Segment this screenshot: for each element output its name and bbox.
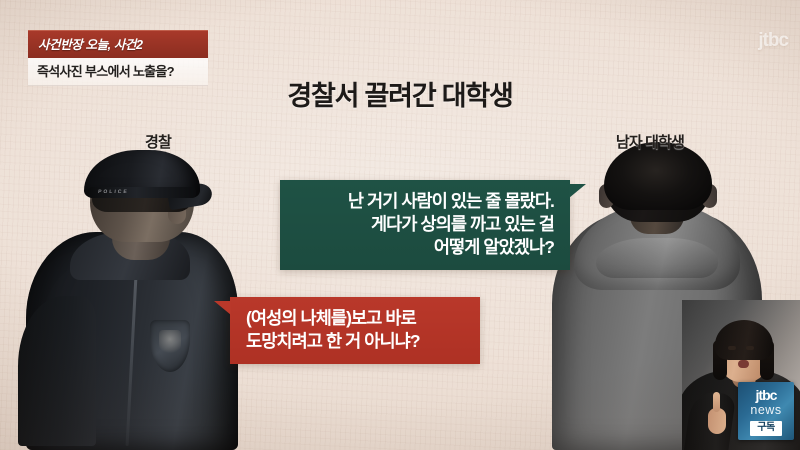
quote-line: 어떻게 알았겠나?: [296, 236, 554, 259]
badge-brand-logo: jtbc: [756, 388, 777, 402]
quote-line: 난 거기 사람이 있는 줄 몰랐다.: [296, 190, 554, 213]
program-tag-bar: 사건반장 오늘, 사건2: [28, 30, 208, 58]
quote-bubble-tail-left: [214, 301, 231, 315]
quote-line: (여성의 나체를)보고 바로: [246, 307, 464, 330]
subscribe-button[interactable]: 구독: [750, 421, 782, 436]
student-hair: [604, 142, 712, 210]
quote-bubble-police: (여성의 나체를)보고 바로 도망치려고 한 거 아니냐?: [230, 297, 480, 364]
quote-bubble-student: 난 거기 사람이 있는 줄 몰랐다. 게다가 상의를 까고 있는 걸 어떻게 알…: [280, 180, 570, 270]
page-title: 경찰서 끌려간 대학생: [0, 74, 800, 113]
police-officer-figure: POLICE: [18, 150, 248, 450]
jtbc-news-subscribe-badge[interactable]: jtbc news 구독: [738, 382, 794, 440]
student-hood-fold: [596, 238, 718, 278]
interpreter-pointing-finger: [713, 392, 720, 412]
interpreter-right-eye: [746, 346, 754, 350]
quote-bubble-tail-right: [569, 184, 586, 198]
quote-line: 게다가 상의를 까고 있는 걸: [296, 213, 554, 236]
interpreter-left-eye: [728, 346, 736, 350]
quote-line: 도망치려고 한 거 아니냐?: [246, 330, 464, 353]
jtbc-watermark-logo: jtbc: [758, 31, 788, 50]
label-male-student: 남자 대학생: [570, 131, 730, 152]
badge-section-label: news: [750, 404, 781, 417]
police-cap-text: POLICE: [98, 189, 129, 196]
program-tag-text: 사건반장 오늘, 사건2: [38, 38, 143, 52]
interpreter-mouth: [738, 360, 749, 368]
broadcast-frame: POLICE jtbc news 구독 사건반장 오늘, 사건: [0, 0, 800, 450]
police-left-shoulder: [18, 296, 96, 446]
label-police: 경찰: [98, 131, 218, 152]
